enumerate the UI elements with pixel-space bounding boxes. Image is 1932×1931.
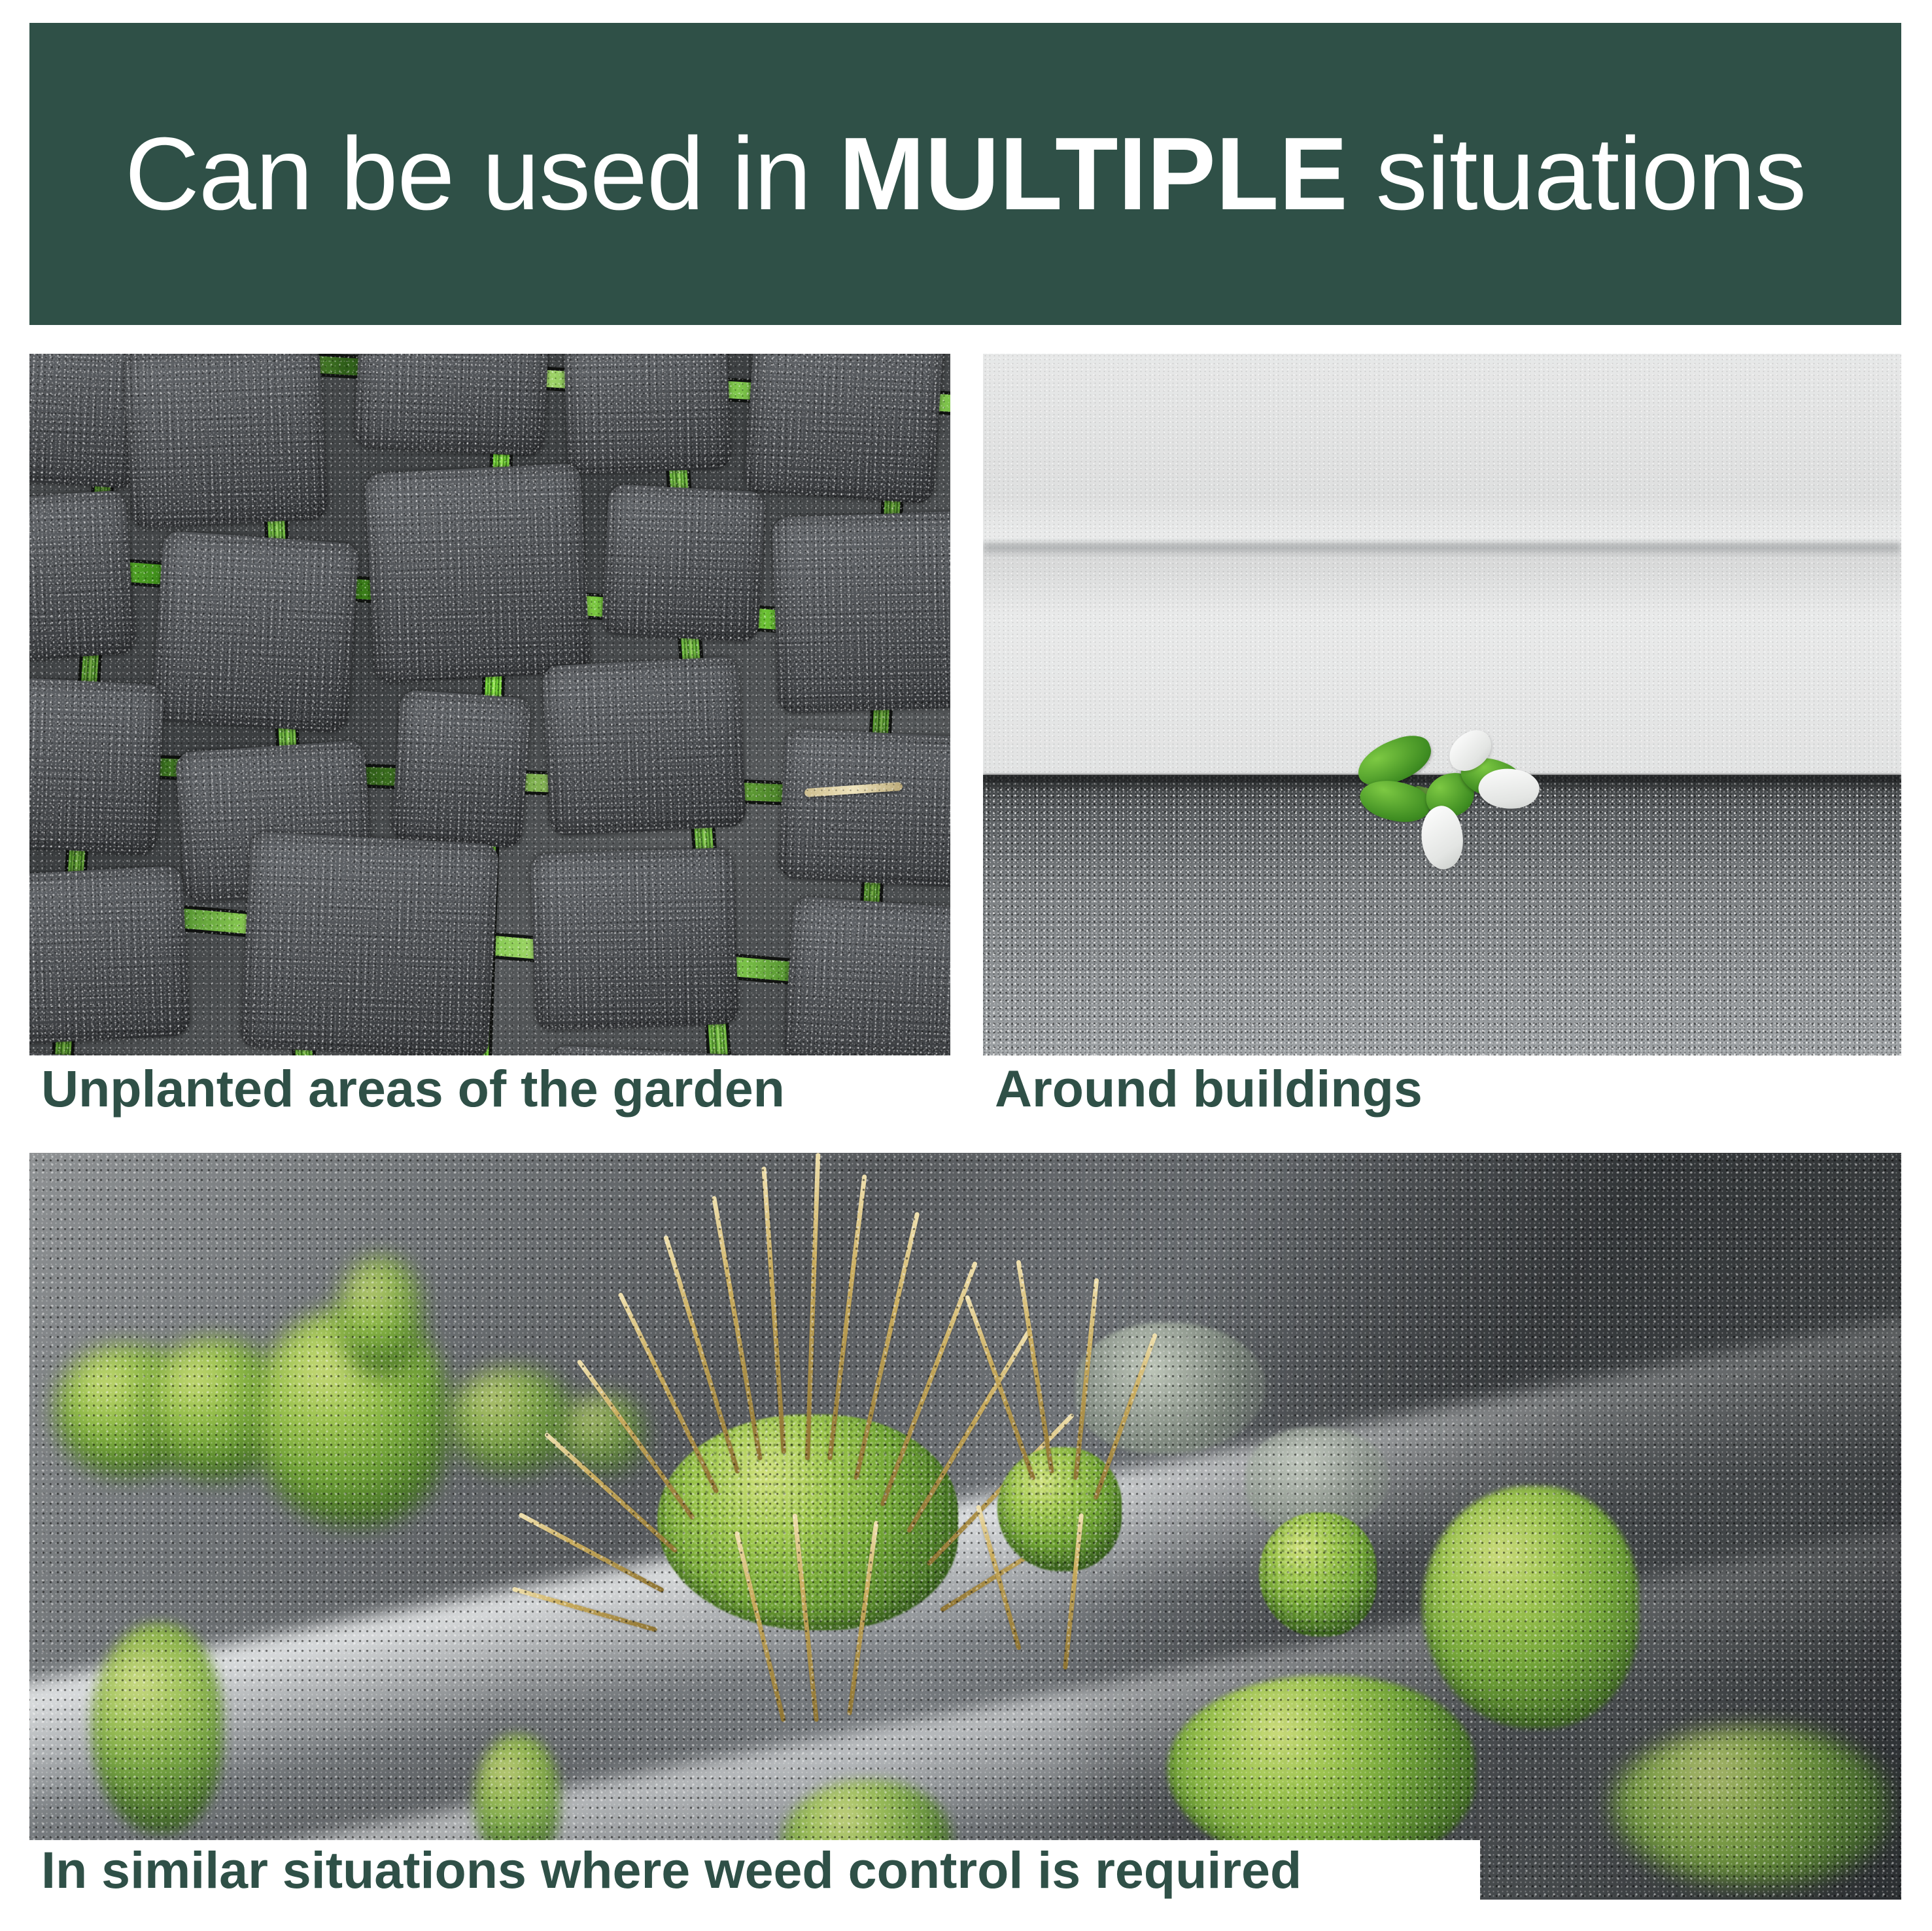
grass-bristle — [1063, 1513, 1084, 1669]
wall-shadow-band — [1078, 1153, 1901, 1900]
grass-bristle — [1016, 1260, 1054, 1474]
grass-tuft — [618, 1231, 1037, 1741]
grass-bristle — [518, 1512, 664, 1594]
page-title-highlight: MULTIPLE — [839, 116, 1348, 231]
moss-cushion — [1167, 1676, 1475, 1866]
page-title-suffix: situations — [1348, 116, 1806, 231]
photo-panel-similar-situations — [29, 1153, 1901, 1900]
moss-cushion — [144, 1339, 281, 1480]
grass-bristle — [906, 1329, 1031, 1533]
moss-cushion — [997, 1447, 1122, 1571]
grass-bristle — [1073, 1278, 1099, 1480]
building-base-photo — [983, 354, 1901, 1055]
header-banner: Can be used in MULTIPLE situations — [29, 23, 1901, 325]
grass-bristle — [926, 1412, 1075, 1566]
grass-bristle — [965, 1295, 1036, 1480]
grass-bristle — [847, 1520, 879, 1715]
grass-bristle — [617, 1292, 719, 1494]
moss-cushion — [56, 1346, 193, 1477]
photo-panel-around-buildings — [983, 354, 1901, 1055]
layout-gap-bottom — [0, 1900, 1932, 1931]
caption-label: Around buildings — [995, 1063, 1423, 1114]
grass-bristle — [793, 1513, 819, 1722]
grass-bristle — [805, 1153, 820, 1460]
moss-cushion — [1259, 1512, 1377, 1637]
caption-label: In similar situations where weed control… — [41, 1844, 1302, 1896]
grass-bristle — [712, 1196, 763, 1461]
grass-bristle — [511, 1586, 657, 1632]
mossy-wall-photo — [29, 1153, 1901, 1900]
moss-cushion — [1423, 1486, 1638, 1728]
moss-cushion — [448, 1369, 572, 1473]
moss-cushion — [337, 1257, 422, 1375]
page-title-prefix: Can be used in — [125, 116, 839, 231]
cobblestone-photo — [29, 354, 950, 1055]
grass-bristle — [827, 1174, 867, 1461]
caption-around-buildings: Around buildings — [983, 1055, 1480, 1121]
lichen-patch — [1246, 1427, 1390, 1532]
layout-gap — [0, 1121, 1932, 1153]
green-sprout — [1351, 719, 1547, 869]
lichen-patch — [1076, 1323, 1266, 1454]
caption-unplanted-garden: Unplanted areas of the garden — [29, 1055, 899, 1121]
wall-ridge-highlight — [29, 1299, 1901, 1900]
white-wall — [983, 354, 1901, 775]
grass-bristle — [544, 1432, 678, 1554]
grass-bristle — [854, 1212, 920, 1480]
caption-label: Unplanted areas of the garden — [41, 1063, 785, 1114]
moss-cushion — [657, 1414, 958, 1630]
stone-grain-overlay — [29, 354, 950, 1055]
grass-bristle — [1093, 1333, 1158, 1500]
wall-seam — [983, 543, 1901, 558]
moss-cushion — [92, 1624, 222, 1833]
grass-bristle — [663, 1235, 740, 1474]
grass-bristle — [761, 1167, 786, 1454]
grass-bristle — [976, 1505, 1022, 1650]
grass-bristle — [940, 1508, 1103, 1613]
photo-panel-unplanted-garden — [29, 354, 950, 1055]
moss-cushion — [252, 1310, 448, 1526]
page-title: Can be used in MULTIPLE situations — [125, 122, 1806, 226]
moss-cushion — [559, 1395, 644, 1473]
grass-bristle — [880, 1261, 978, 1507]
moss-cushion — [1612, 1728, 1887, 1885]
caption-similar-situations: In similar situations where weed control… — [29, 1840, 1480, 1900]
grass-bristle — [734, 1531, 786, 1722]
grass-tuft — [971, 1349, 1154, 1624]
grass-bristle — [576, 1359, 695, 1520]
